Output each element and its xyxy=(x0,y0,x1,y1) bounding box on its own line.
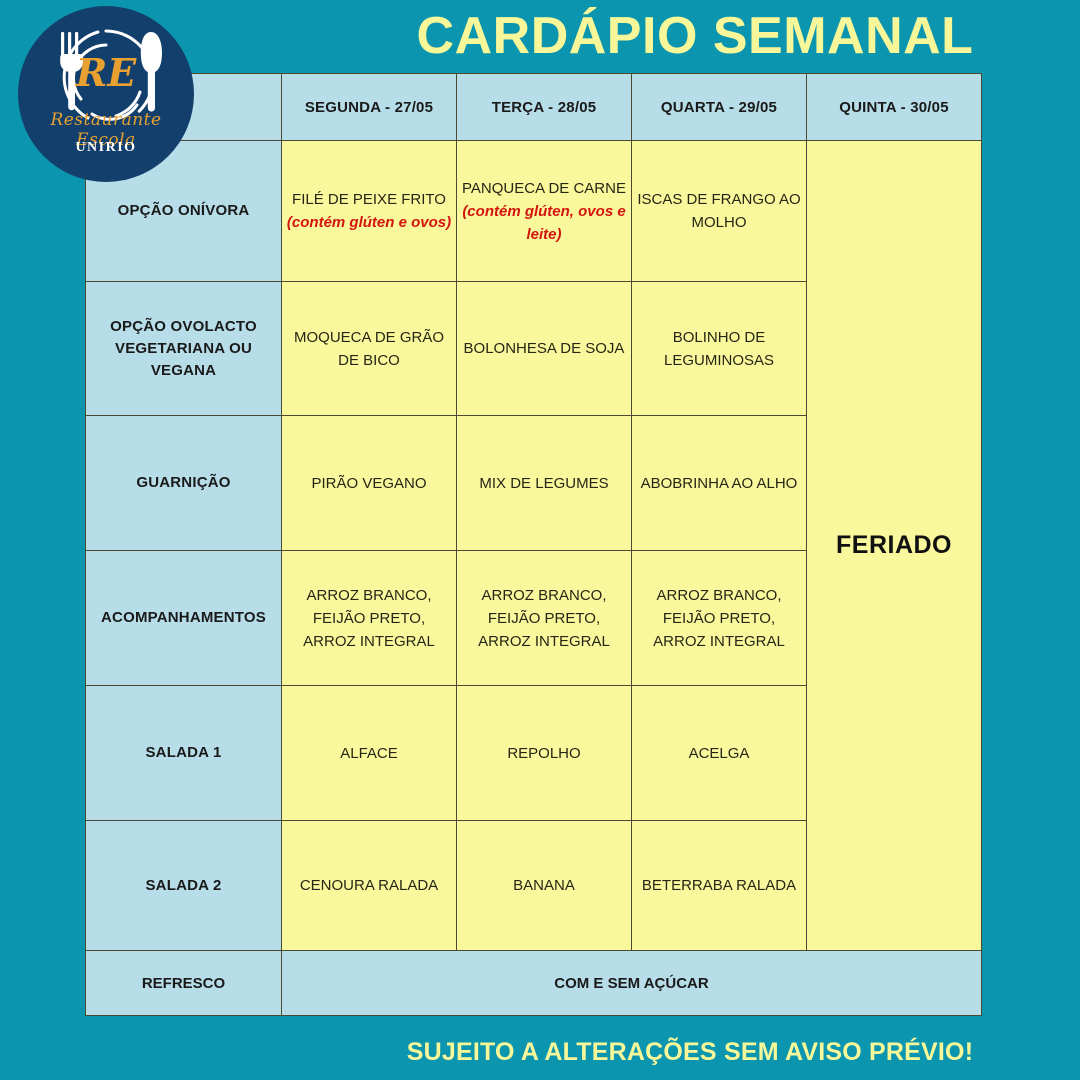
day-header-quinta: QUINTA - 30/05 xyxy=(807,74,982,141)
knife-icon xyxy=(141,32,162,112)
logo-monogram: RE xyxy=(75,50,138,95)
table-row: REFRESCO COM E SEM AÇÚCAR xyxy=(86,951,982,1016)
dish-name: PANQUECA DE CARNE xyxy=(462,180,626,197)
weekly-menu-table: SEGUNDA - 27/05 TERÇA - 28/05 QUARTA - 2… xyxy=(85,73,982,1016)
day-header-terca: TERÇA - 28/05 xyxy=(457,74,632,141)
dish-name: FILÉ DE PEIXE FRITO xyxy=(292,191,446,208)
menu-cell-salada2-segunda: CENOURA RALADA xyxy=(282,821,457,951)
menu-cell-salada2-quarta: BETERRABA RALADA xyxy=(632,821,807,951)
menu-cell-vegetariana-segunda: MOQUECA DE GRÃO DE BICO xyxy=(282,282,457,416)
menu-cell-onivora-segunda: FILÉ DE PEIXE FRITO (contém glúten e ovo… xyxy=(282,141,457,282)
menu-cell-onivora-terca: PANQUECA DE CARNE (contém glúten, ovos e… xyxy=(457,141,632,282)
menu-cell-vegetariana-terca: BOLONHESA DE SOJA xyxy=(457,282,632,416)
day-header-quarta: QUARTA - 29/05 xyxy=(632,74,807,141)
menu-cell-guarnicao-quarta: ABOBRINHA AO ALHO xyxy=(632,416,807,551)
menu-cell-guarnicao-segunda: PIRÃO VEGANO xyxy=(282,416,457,551)
row-label-opcao-vegetariana: OPÇÃO OVOLACTO VEGETARIANA OU VEGANA xyxy=(86,282,282,416)
restaurant-logo: RE Restaurante Escola UNIRIO xyxy=(18,6,194,182)
menu-cell-acompanhamentos-terca: ARROZ BRANCO, FEIJÃO PRETO, ARROZ INTEGR… xyxy=(457,551,632,686)
menu-cell-onivora-quarta: ISCAS DE FRANGO AO MOLHO xyxy=(632,141,807,282)
row-label-salada-2: SALADA 2 xyxy=(86,821,282,951)
row-label-salada-1: SALADA 1 xyxy=(86,686,282,821)
menu-cell-vegetariana-quarta: BOLINHO DE LEGUMINOSAS xyxy=(632,282,807,416)
menu-cell-guarnicao-terca: MIX DE LEGUMES xyxy=(457,416,632,551)
menu-cell-refresco-value: COM E SEM AÇÚCAR xyxy=(282,951,982,1016)
logo-institution: UNIRIO xyxy=(18,140,194,156)
menu-cell-salada1-segunda: ALFACE xyxy=(282,686,457,821)
menu-cell-salada1-terca: REPOLHO xyxy=(457,686,632,821)
menu-cell-acompanhamentos-quarta: ARROZ BRANCO, FEIJÃO PRETO, ARROZ INTEGR… xyxy=(632,551,807,686)
menu-cell-salada1-quarta: ACELGA xyxy=(632,686,807,821)
dish-name: ISCAS DE FRANGO AO MOLHO xyxy=(637,191,800,231)
allergen-note: (contém glúten e ovos) xyxy=(286,211,452,234)
menu-cell-salada2-terca: BANANA xyxy=(457,821,632,951)
day-header-segunda: SEGUNDA - 27/05 xyxy=(282,74,457,141)
page-title: CARDÁPIO SEMANAL xyxy=(415,6,975,66)
holiday-cell-quinta: FERIADO xyxy=(807,141,982,951)
page-footer: SUJEITO A ALTERAÇÕES SEM AVISO PRÉVIO! xyxy=(0,1028,1080,1080)
allergen-note: (contém glúten, ovos e leite) xyxy=(461,200,627,246)
row-label-guarnicao: GUARNIÇÃO xyxy=(86,416,282,551)
menu-cell-acompanhamentos-segunda: ARROZ BRANCO, FEIJÃO PRETO, ARROZ INTEGR… xyxy=(282,551,457,686)
row-label-refresco: REFRESCO xyxy=(86,951,282,1016)
table-header-row: SEGUNDA - 27/05 TERÇA - 28/05 QUARTA - 2… xyxy=(86,74,982,141)
table-row: OPÇÃO ONÍVORA FILÉ DE PEIXE FRITO (conté… xyxy=(86,141,982,282)
footer-notice: SUJEITO A ALTERAÇÕES SEM AVISO PRÉVIO! xyxy=(400,1038,980,1067)
row-label-acompanhamentos: ACOMPANHAMENTOS xyxy=(86,551,282,686)
